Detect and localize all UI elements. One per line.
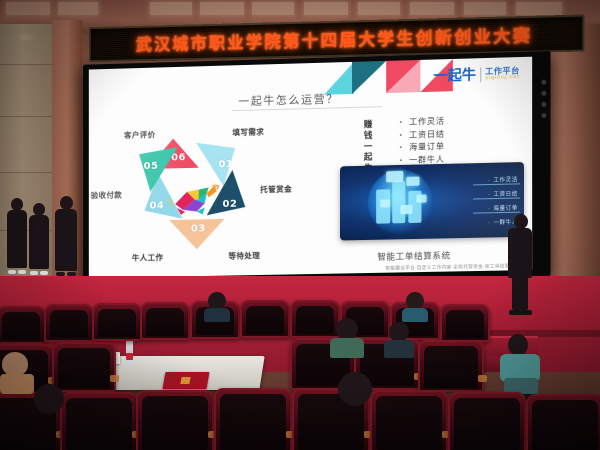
slide-caption-sub: 智能撮合平台·自定义工作内容·全程托管资金·按工单结算: [385, 263, 509, 271]
cycle-label-02: 托管赏金: [260, 184, 292, 196]
cycle-number-05: 05: [144, 161, 159, 172]
audience-seat: [44, 304, 94, 342]
audience-seat: [0, 306, 46, 344]
audience-member: [330, 372, 380, 422]
audience-seat: [240, 300, 290, 338]
triangle-teal: [352, 61, 386, 94]
audience-seat: [448, 392, 526, 450]
logo-divider: [480, 67, 481, 82]
ui-card: [380, 199, 390, 207]
ui-card: [406, 177, 419, 186]
cycle-number-04: 04: [150, 200, 165, 211]
logo-domain-text: yiqiniu.net: [485, 75, 520, 81]
student-team-member: [28, 203, 50, 281]
audience-member: [204, 292, 230, 318]
presenter-on-stage: [506, 214, 534, 318]
polygon-bull-icon: [165, 181, 220, 216]
audience-seat: [418, 340, 484, 392]
logo-mark-text: 一起牛: [433, 68, 476, 83]
audience-member: [384, 322, 414, 354]
slide-logo: 一起牛 工作平台 yiqiniu.net: [433, 66, 519, 84]
audience-member: [330, 318, 364, 354]
cycle-label-03: 等待处理: [228, 250, 260, 262]
student-team-member: [6, 198, 28, 280]
red-award-folder: [163, 372, 210, 389]
screen-control-buttons[interactable]: [539, 80, 547, 161]
triangle-pink: [386, 60, 420, 93]
audience-seat: [214, 388, 292, 450]
cycle-label-05: 验收付款: [91, 189, 122, 201]
audience-seat: [140, 302, 190, 340]
audience-seat: [526, 394, 600, 450]
ui-card: [400, 205, 412, 214]
process-cycle-diagram: 06 01 02 03 04 05: [126, 136, 256, 256]
audience-seat: [92, 303, 142, 341]
cycle-number-01: 01: [219, 159, 234, 170]
cycle-label-06: 客户评价: [124, 129, 155, 141]
side-bullet-list: 工作灵活 工资日结 海量订单 一群牛人: [399, 116, 444, 167]
screenshot-root: 武汉城市职业学院第十四届大学生创新创业大赛 一起牛 工作平台 yiqiniu.: [0, 0, 600, 450]
audience-seat: [440, 304, 490, 342]
figure-silhouette: [392, 181, 405, 223]
slide-caption-main: 智能工单结算系统: [377, 249, 450, 262]
presentation-slide: 一起牛 工作平台 yiqiniu.net 一起牛怎么运营？ 06 01: [89, 57, 532, 278]
slide-title: 一起牛怎么运营？: [238, 90, 338, 109]
projection-screen: 一起牛 工作平台 yiqiniu.net 一起牛怎么运营？ 06 01: [83, 51, 551, 284]
audience-member-foreground: [0, 352, 34, 392]
staff-crouching: [498, 334, 542, 400]
student-team-member: [54, 196, 78, 282]
audience-seat: [370, 390, 448, 450]
audience-member: [402, 292, 428, 318]
cycle-number-03: 03: [191, 223, 206, 234]
ui-card: [416, 195, 426, 203]
cycle-label-01: 填写需求: [232, 126, 264, 138]
audience-seat: [136, 390, 214, 450]
bullet-item: 工作灵活: [399, 116, 444, 130]
ui-card: [386, 171, 403, 182]
cycle-label-04: 牛人工作: [132, 252, 163, 264]
bullet-item: 海量订单: [399, 141, 444, 155]
tech-photo-card: 工作灵活 工资日结 海量订单 一群牛人: [340, 162, 524, 240]
cycle-number-02: 02: [223, 199, 238, 210]
bullet-item: 工资日结: [399, 128, 444, 142]
